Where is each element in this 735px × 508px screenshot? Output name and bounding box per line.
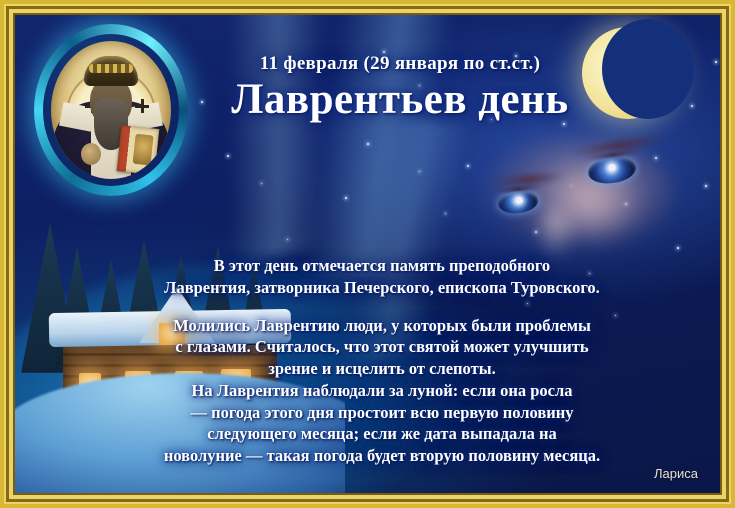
star [715,61,717,63]
star [367,143,369,145]
gospel-book-icon [117,125,160,175]
author-signature: Лариса [654,466,698,481]
date-line: 11 февраля (29 января по ст.ст.) [165,53,635,75]
cross-icon [135,99,149,113]
star [691,105,693,107]
body-line: следующего месяца; если же дата выпадала… [37,423,720,445]
woman-face-illustration [440,113,690,263]
eye-glint [515,197,523,205]
body-line: Лаврентия, затворника Печерского, еписко… [37,277,720,299]
star [705,185,707,187]
body-line: В этот день отмечается память преподобно… [37,255,720,277]
mitre-crown [84,56,138,86]
star [345,197,347,199]
page-title: Лаврентьев день [165,77,635,122]
body-line: с глазами. Считалось, что этот святой мо… [37,336,720,358]
paragraph-gap [37,299,720,315]
paragraph-host: В этот день отмечается память преподобно… [37,255,720,467]
eye-glint [608,164,616,172]
body-line: — погода этого дня простоит всю первую п… [37,402,720,424]
icon-oval [51,41,171,179]
greeting-card: 11 февраля (29 января по ст.ст.) Лаврент… [0,0,735,508]
body-line: На Лаврентия наблюдали за луной: если он… [37,380,720,402]
star [419,171,420,172]
blessing-hand [81,143,101,165]
star [227,155,229,157]
body-line: зрение и исцелить от слепоты. [37,358,720,380]
body-line: новолуние — такая погода будет вторую по… [37,445,720,467]
body-text: В этот день отмечается память преподобно… [37,255,720,467]
body-line: Молились Лаврентию люди, у которых были … [37,315,720,337]
nose-shading [532,209,578,261]
card-inner: 11 февраля (29 января по ст.ст.) Лаврент… [15,15,720,493]
